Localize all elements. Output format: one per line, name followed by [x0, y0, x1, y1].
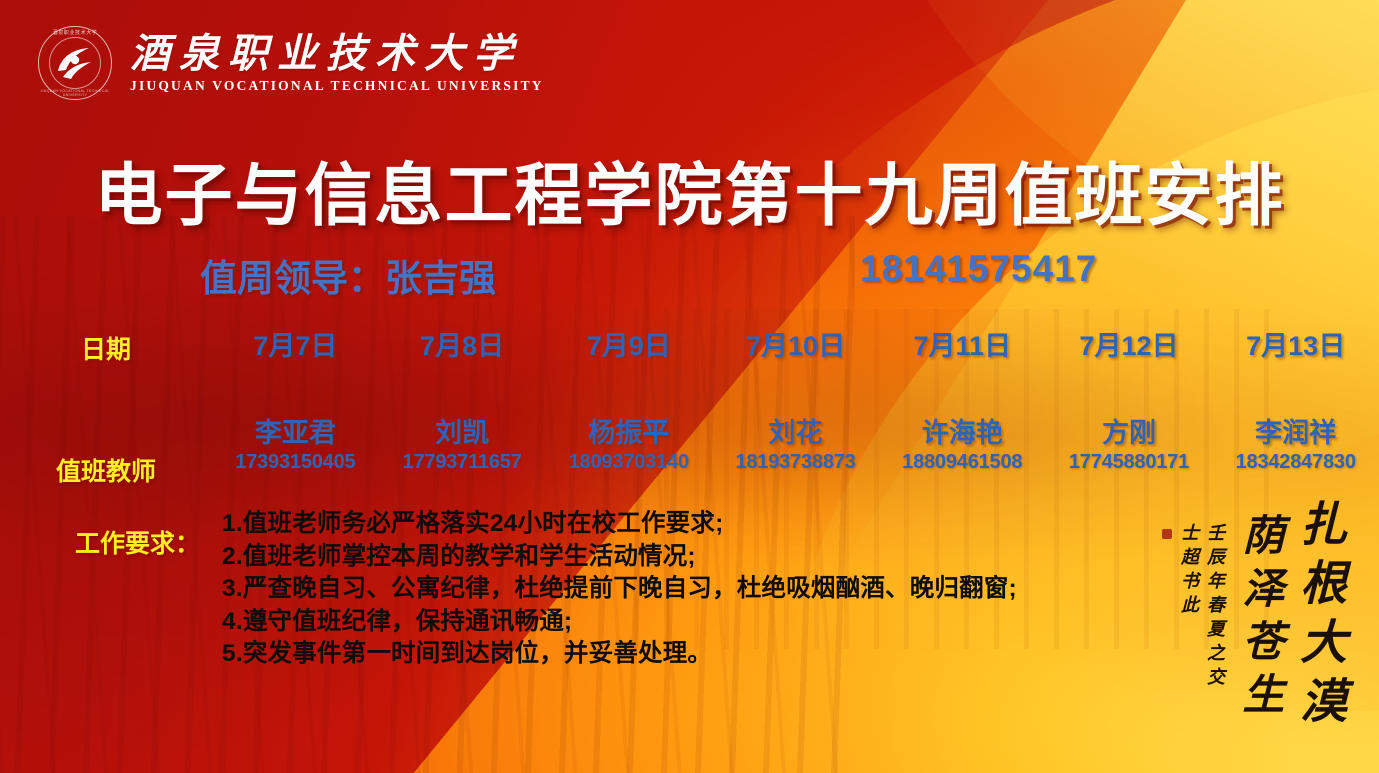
row-label-teacher: 值班教师: [0, 418, 212, 488]
date-value: 7月11日: [913, 331, 1011, 361]
page-title: 电子与信息工程学院第十九周值班安排: [0, 140, 1379, 239]
teacher-name: 刘凯: [379, 418, 546, 449]
table-cell-teacher: 许海艳 18809461508: [879, 418, 1046, 474]
seal-swoosh-icon: [53, 41, 97, 85]
teacher-name: 杨振平: [545, 418, 712, 449]
week-leader-name: 值周领导：张吉强: [200, 248, 496, 302]
table-cell-date: 7月8日: [379, 324, 546, 363]
brand-name-en: JIUQUAN VOCATIONAL TECHNICAL UNIVERSITY: [130, 78, 544, 94]
teacher-name: 李润祥: [1212, 418, 1379, 449]
university-seal-icon: 酒泉职业技术大学 JIUQUAN VOCATIONAL TECHNICAL UN…: [38, 26, 112, 100]
teacher-cells: 李亚君 17393150405 刘凯 17793711657 杨振平 18093…: [212, 418, 1379, 474]
duty-schedule-poster: 酒泉职业技术大学 JIUQUAN VOCATIONAL TECHNICAL UN…: [0, 0, 1379, 773]
brand-header: 酒泉职业技术大学 JIUQUAN VOCATIONAL TECHNICAL UN…: [38, 26, 544, 100]
table-cell-teacher: 李润祥 18342847830: [1212, 418, 1379, 474]
teacher-name: 方刚: [1046, 418, 1213, 449]
table-cell-teacher: 刘花 18193738873: [712, 418, 879, 474]
brand-name-cn: 酒泉职业技术大学: [130, 32, 544, 75]
date-value: 7月12日: [1079, 331, 1178, 361]
seal-inner-text-cn: 酒泉职业技术大学: [38, 29, 112, 36]
brand-wordmark: 酒泉职业技术大学 JIUQUAN VOCATIONAL TECHNICAL UN…: [130, 32, 544, 93]
week-leader-row: 值周领导：张吉强 18141575417: [0, 248, 1379, 300]
week-leader-phone: 18141575417: [860, 248, 1097, 290]
teacher-name: 许海艳: [879, 418, 1046, 449]
teacher-phone: 18342847830: [1212, 451, 1379, 474]
duty-schedule-table: 日期 7月7日 7月8日 7月9日 7月10日 7月11日 7月12日 7月13…: [0, 324, 1379, 488]
row-label-date: 日期: [0, 324, 212, 366]
teacher-phone: 18193738873: [712, 451, 879, 474]
calligraphy-seal-stamp-icon: [1162, 529, 1172, 539]
table-cell-date: 7月10日: [712, 324, 879, 363]
teacher-name: 刘花: [712, 418, 879, 449]
table-cell-teacher: 方刚 17745880171: [1046, 418, 1213, 474]
table-cell-date: 7月9日: [545, 324, 712, 363]
date-cells: 7月7日 7月8日 7月9日 7月10日 7月11日 7月12日 7月13日: [212, 324, 1379, 363]
teacher-phone: 17393150405: [212, 451, 379, 474]
date-value: 7月13日: [1246, 331, 1345, 361]
table-cell-teacher: 李亚君 17393150405: [212, 418, 379, 474]
teacher-phone: 17793711657: [379, 451, 546, 474]
seal-inner-text-en: JIUQUAN VOCATIONAL TECHNICAL UNIVERSITY: [38, 89, 112, 97]
calligraphy-line-2: 荫泽苍生: [1238, 513, 1280, 725]
calligraphy-signature-col-2: 士超书此: [1180, 523, 1198, 691]
teacher-name: 李亚君: [212, 418, 379, 449]
work-requirements-label: 工作要求：: [0, 508, 212, 560]
table-row-dates: 日期 7月7日 7月8日 7月9日 7月10日 7月11日 7月12日 7月13…: [0, 324, 1379, 366]
teacher-phone: 18093703140: [545, 451, 712, 474]
calligraphy-signature: 壬辰年春夏之交 士超书此: [1162, 523, 1224, 691]
calligraphy-signature-col-1: 壬辰年春夏之交: [1206, 523, 1224, 691]
teacher-phone: 17745880171: [1046, 451, 1213, 474]
table-row-teachers: 值班教师 李亚君 17393150405 刘凯 17793711657 杨振平 …: [0, 418, 1379, 488]
date-value: 7月7日: [253, 331, 337, 361]
teacher-phone: 18809461508: [879, 451, 1046, 474]
table-cell-date: 7月13日: [1212, 324, 1379, 363]
calligraphy-artwork: 扎根大漠 荫泽苍生 壬辰年春夏之交 士超书此: [1162, 499, 1341, 735]
table-cell-teacher: 刘凯 17793711657: [379, 418, 546, 474]
table-cell-date: 7月7日: [212, 324, 379, 363]
table-cell-date: 7月12日: [1046, 324, 1213, 363]
date-value: 7月9日: [587, 331, 671, 361]
table-cell-date: 7月11日: [879, 324, 1046, 363]
date-value: 7月8日: [420, 331, 504, 361]
calligraphy-line-1: 扎根大漠: [1294, 499, 1341, 735]
date-value: 7月10日: [746, 331, 845, 361]
table-cell-teacher: 杨振平 18093703140: [545, 418, 712, 474]
